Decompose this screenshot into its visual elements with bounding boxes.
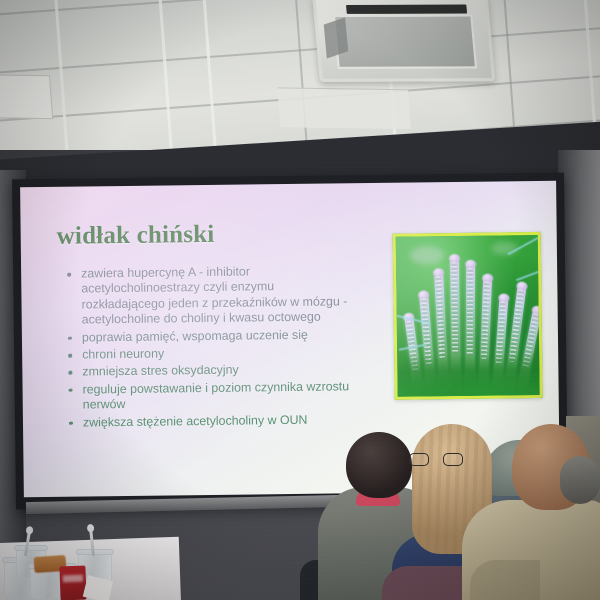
- person-head: [346, 432, 412, 498]
- jar-rim: [76, 549, 114, 555]
- clubmoss-stalk-tip: [531, 305, 543, 316]
- slide-bullet-item: poprawia pamięć, wspomaga uczenie się: [66, 327, 356, 346]
- jar-rim: [14, 545, 48, 551]
- eyeglass-lens: [443, 453, 463, 466]
- ceiling-tile-panel: [277, 87, 410, 129]
- ac-cassette-vent: [312, 0, 495, 82]
- slide-title: widłak chiński: [57, 221, 215, 251]
- clubmoss-plant-photo: [393, 232, 543, 400]
- person-shoulder: [382, 566, 472, 600]
- ceiling-tile-panel: [0, 74, 53, 119]
- clubmoss-stalk-tip: [482, 273, 493, 282]
- slide-bullet-item: zwiększa stężenie acetylocholiny w OUN: [67, 412, 357, 431]
- clubmoss-stalk-tip: [433, 268, 444, 278]
- eyeglasses-icon: [409, 453, 465, 467]
- lecture-room-photo: widłak chiński zawiera hupercynę A - inh…: [0, 0, 600, 600]
- ac-vent-slot: [346, 5, 467, 14]
- ac-vent-grille: [333, 15, 477, 69]
- person-side-hair: [560, 456, 600, 504]
- slide-bullet-item: zmniejsza stres oksydacyjny: [66, 362, 356, 381]
- slide-bullet-item: zawiera hupercynę A - inhibitor acetyloc…: [65, 263, 356, 328]
- ac-vent-corner-flap: [324, 17, 348, 58]
- slide-bullet-item: reguluje powstawanie i poziom czynnika w…: [66, 379, 356, 413]
- shirt-fold: [470, 560, 540, 600]
- photo-ground-moss: [397, 353, 540, 397]
- clubmoss-stalk-tip: [498, 293, 510, 303]
- ceiling-grid-line: [0, 0, 600, 18]
- slide-bullet-item: chroni neurony: [66, 344, 356, 363]
- slide-bullet-list: zawiera hupercynę A - inhibitor acetyloc…: [65, 263, 357, 433]
- clubmoss-stalk-tip: [418, 290, 430, 300]
- eyeglass-lens: [409, 453, 429, 466]
- red-box-label: [63, 575, 83, 583]
- clubmoss-stalk-tip: [449, 254, 460, 263]
- clubmoss-stalk-tip: [465, 260, 476, 269]
